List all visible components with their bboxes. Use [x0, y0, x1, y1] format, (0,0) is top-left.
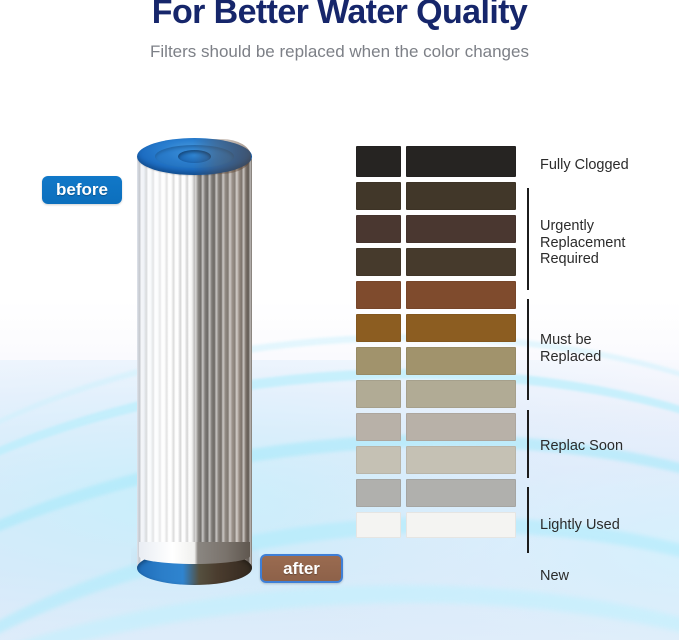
swatch-row [356, 182, 516, 210]
swatch-small [356, 314, 401, 342]
swatch-small [356, 413, 401, 441]
swatch-large [406, 314, 516, 342]
swatch-large [406, 281, 516, 309]
swatch-large [406, 347, 516, 375]
swatch-row [356, 512, 516, 538]
water-filter-cartridge-image [137, 138, 252, 590]
swatch-small [356, 347, 401, 375]
filter-bottom-pleat-cover [139, 542, 250, 564]
badge-before-label: before [56, 180, 108, 200]
swatch-large [406, 182, 516, 210]
swatch-row [356, 281, 516, 309]
swatch-small [356, 479, 401, 507]
group-bracket-lightly-used [527, 487, 529, 553]
color-reference-scale [356, 146, 516, 543]
swatch-row [356, 146, 516, 177]
swatch-row [356, 479, 516, 507]
swatch-large [406, 215, 516, 243]
swatch-large [406, 446, 516, 474]
swatch-row [356, 446, 516, 474]
group-bracket-replac-soon [527, 410, 529, 478]
badge-after: after [260, 554, 343, 583]
swatch-large [406, 413, 516, 441]
filter-pleated-body [137, 158, 252, 570]
group-bracket-must-replace [527, 299, 529, 400]
swatch-row [356, 215, 516, 243]
infographic-canvas: For Better Water Quality Filters should … [0, 0, 679, 640]
swatch-row [356, 380, 516, 408]
swatch-small [356, 215, 401, 243]
swatch-small [356, 512, 401, 538]
swatch-row [356, 314, 516, 342]
swatch-small [356, 446, 401, 474]
group-label-replac-soon: Replac Soon [540, 438, 623, 455]
background-water-texture [0, 0, 679, 640]
page-subtitle: Filters should be replaced when the colo… [0, 42, 679, 62]
page-title: For Better Water Quality [0, 0, 679, 32]
filter-top-cap [137, 138, 252, 175]
swatch-row [356, 347, 516, 375]
swatch-small [356, 182, 401, 210]
group-label-must-be-replaced: Must be Replaced [540, 332, 601, 365]
swatch-row [356, 413, 516, 441]
swatch-large [406, 479, 516, 507]
group-label-new: New [540, 568, 569, 585]
group-label-lightly-used: Lightly Used [540, 517, 620, 534]
swatch-small [356, 281, 401, 309]
swatch-large [406, 146, 516, 177]
swatch-small [356, 248, 401, 276]
badge-after-label: after [283, 559, 320, 579]
swatch-large [406, 380, 516, 408]
group-label-fully-clogged: Fully Clogged [540, 157, 629, 174]
badge-before: before [42, 176, 122, 204]
swatch-large [406, 512, 516, 538]
swatch-small [356, 146, 401, 177]
swatch-small [356, 380, 401, 408]
filter-center-hole [178, 150, 211, 163]
group-bracket-urgently [527, 188, 529, 290]
group-label-urgently-replacement-required: Urgently Replacement Required [540, 218, 625, 268]
swatch-large [406, 248, 516, 276]
swatch-row [356, 248, 516, 276]
